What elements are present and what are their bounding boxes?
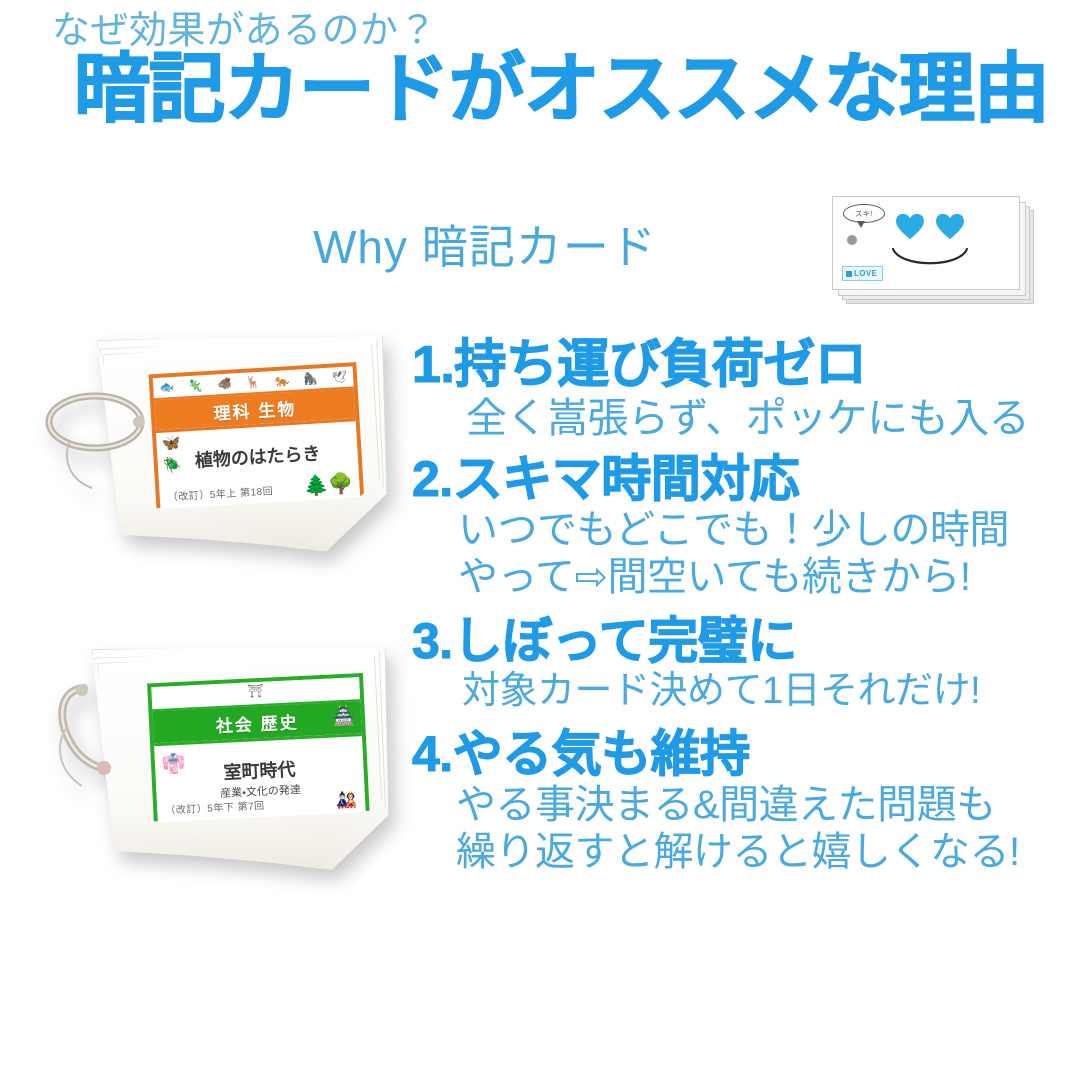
- smile-mouth-icon: [891, 247, 969, 273]
- benefit-4-sub-line-2: 繰り返すと解けると嬉しくなる!: [412, 829, 1052, 876]
- benefit-4-title: やる気も維持: [453, 726, 750, 782]
- page-title: 暗記カードがオススメな理由: [74, 50, 1049, 130]
- benefit-item-1: 1.持ち運び負荷ゼロ 全く嵩張らず、ポッケにも入る: [412, 336, 1052, 443]
- benefit-2-heading: 2.スキマ時間対応: [412, 451, 1052, 507]
- social-card-label: ⛩ 社会 歴史 🏯 👘 室町時代 産業・文化の発達 （改訂）5年下 第7回 🎎: [147, 673, 369, 821]
- binder-ring-science-icon: [40, 376, 150, 496]
- benefit-item-4: 4.やる気も維持 やる事決まる&間違えた問題も 繰り返すと解けると嬉しくなる!: [412, 726, 1052, 876]
- benefit-1-title: 持ち運び負荷ゼロ: [454, 336, 866, 394]
- benefit-2-sub-line-1: いつでもどこでも！少しの時間: [412, 507, 1052, 554]
- benefit-2-number: 2.: [412, 451, 453, 507]
- science-card-body: 🦋 🪲 植物のはたらき （改訂）5年上 第18回 🌲🌳: [156, 418, 360, 509]
- love-badge-label: LOVE: [854, 269, 877, 278]
- deer-silhouette-icon: 🦌: [245, 376, 261, 389]
- badge-square-icon: [846, 271, 852, 277]
- love-card-sheet-1: スキ! LOVE: [832, 196, 1020, 290]
- love-card-face: スキ! LOVE: [833, 197, 1019, 289]
- science-card-label: 🐟 🦎 🐗 🦌 🐅 🦍 🕊 理科 生物 🦋 🪲 植物のはたら: [149, 362, 365, 508]
- lizard-silhouette-icon: 🦎: [188, 379, 204, 392]
- benefit-2-sub-line-2: やって⇨間空いても続きから!: [412, 554, 1052, 601]
- benefit-3-number: 3.: [412, 613, 453, 669]
- benefit-item-2: 2.スキマ時間対応 いつでもどこでも！少しの時間 やって⇨間空いても続きから!: [412, 451, 1052, 601]
- shrine-gate-icon: ⛩: [247, 683, 264, 700]
- castle-icon: 🏯: [332, 705, 355, 727]
- science-card-stack: 🐟 🦎 🐗 🦌 🐅 🦍 🕊 理科 生物 🦋 🪲 植物のはたら: [82, 326, 402, 588]
- speech-bubble: スキ!: [843, 204, 885, 223]
- dot-icon: [847, 235, 857, 245]
- benefit-1-number: 1.: [412, 336, 454, 394]
- science-card-title: 植物のはたらき: [157, 437, 358, 475]
- benefit-4-heading: 4.やる気も維持: [412, 726, 1052, 782]
- science-card-meta: （改訂）5年上 第18回: [167, 482, 273, 503]
- fish-silhouette-icon: 🐟: [159, 381, 175, 394]
- page-kicker: なぜ効果があるのか？: [52, 12, 437, 52]
- bird-silhouette-icon: 🕊: [331, 371, 347, 384]
- benefit-4-sub-line-1: やる事決まる&間違えた問題も: [412, 782, 1052, 829]
- boar-silhouette-icon: 🐗: [216, 378, 232, 391]
- heart-eye-right-icon: [935, 213, 965, 240]
- benefit-3-title: しぼって完璧に: [453, 613, 797, 669]
- benefit-3-heading: 3.しぼって完璧に: [412, 613, 1052, 669]
- poster-canvas: なぜ効果があるのか？ 暗記カードがオススメな理由 Why 暗記カード スキ! L…: [0, 0, 1078, 1080]
- trees-icon: 🌲🌳: [303, 474, 354, 497]
- science-band-label: 理科 生物: [213, 394, 297, 424]
- tiger-silhouette-icon: 🐅: [274, 374, 290, 387]
- heart-eye-left-icon: [895, 213, 925, 240]
- benefit-1-sub-line-1: 全く嵩張らず、ポッケにも入る: [412, 394, 1052, 442]
- benefit-item-3: 3.しぼって完璧に 対象カード決めて1日それだけ!: [412, 613, 1052, 714]
- benefit-3-sub-line-1: 対象カード決めて1日それだけ!: [412, 669, 1052, 714]
- benefit-2-title: スキマ時間対応: [453, 451, 800, 507]
- binder-ring-social-icon: [40, 666, 150, 796]
- social-card-body: 👘 室町時代 産業・文化の発達 （改訂）5年下 第7回 🎎: [154, 733, 366, 822]
- doll-icon: 🎎: [335, 791, 357, 809]
- social-card-stack: ⛩ 社会 歴史 🏯 👘 室町時代 産業・文化の発達 （改訂）5年下 第7回 🎎: [74, 636, 404, 906]
- why-label: Why 暗記カード: [313, 222, 657, 273]
- social-band-label: 社会 歴史: [215, 708, 299, 737]
- gorilla-silhouette-icon: 🦍: [303, 372, 319, 385]
- benefit-1-heading: 1.持ち運び負荷ゼロ: [412, 336, 1052, 394]
- love-card-stack: スキ! LOVE: [832, 196, 1040, 308]
- love-badge: LOVE: [842, 266, 883, 281]
- benefits-list: 1.持ち運び負荷ゼロ 全く嵩張らず、ポッケにも入る 2.スキマ時間対応 いつでも…: [412, 336, 1052, 882]
- benefit-4-number: 4.: [412, 726, 453, 782]
